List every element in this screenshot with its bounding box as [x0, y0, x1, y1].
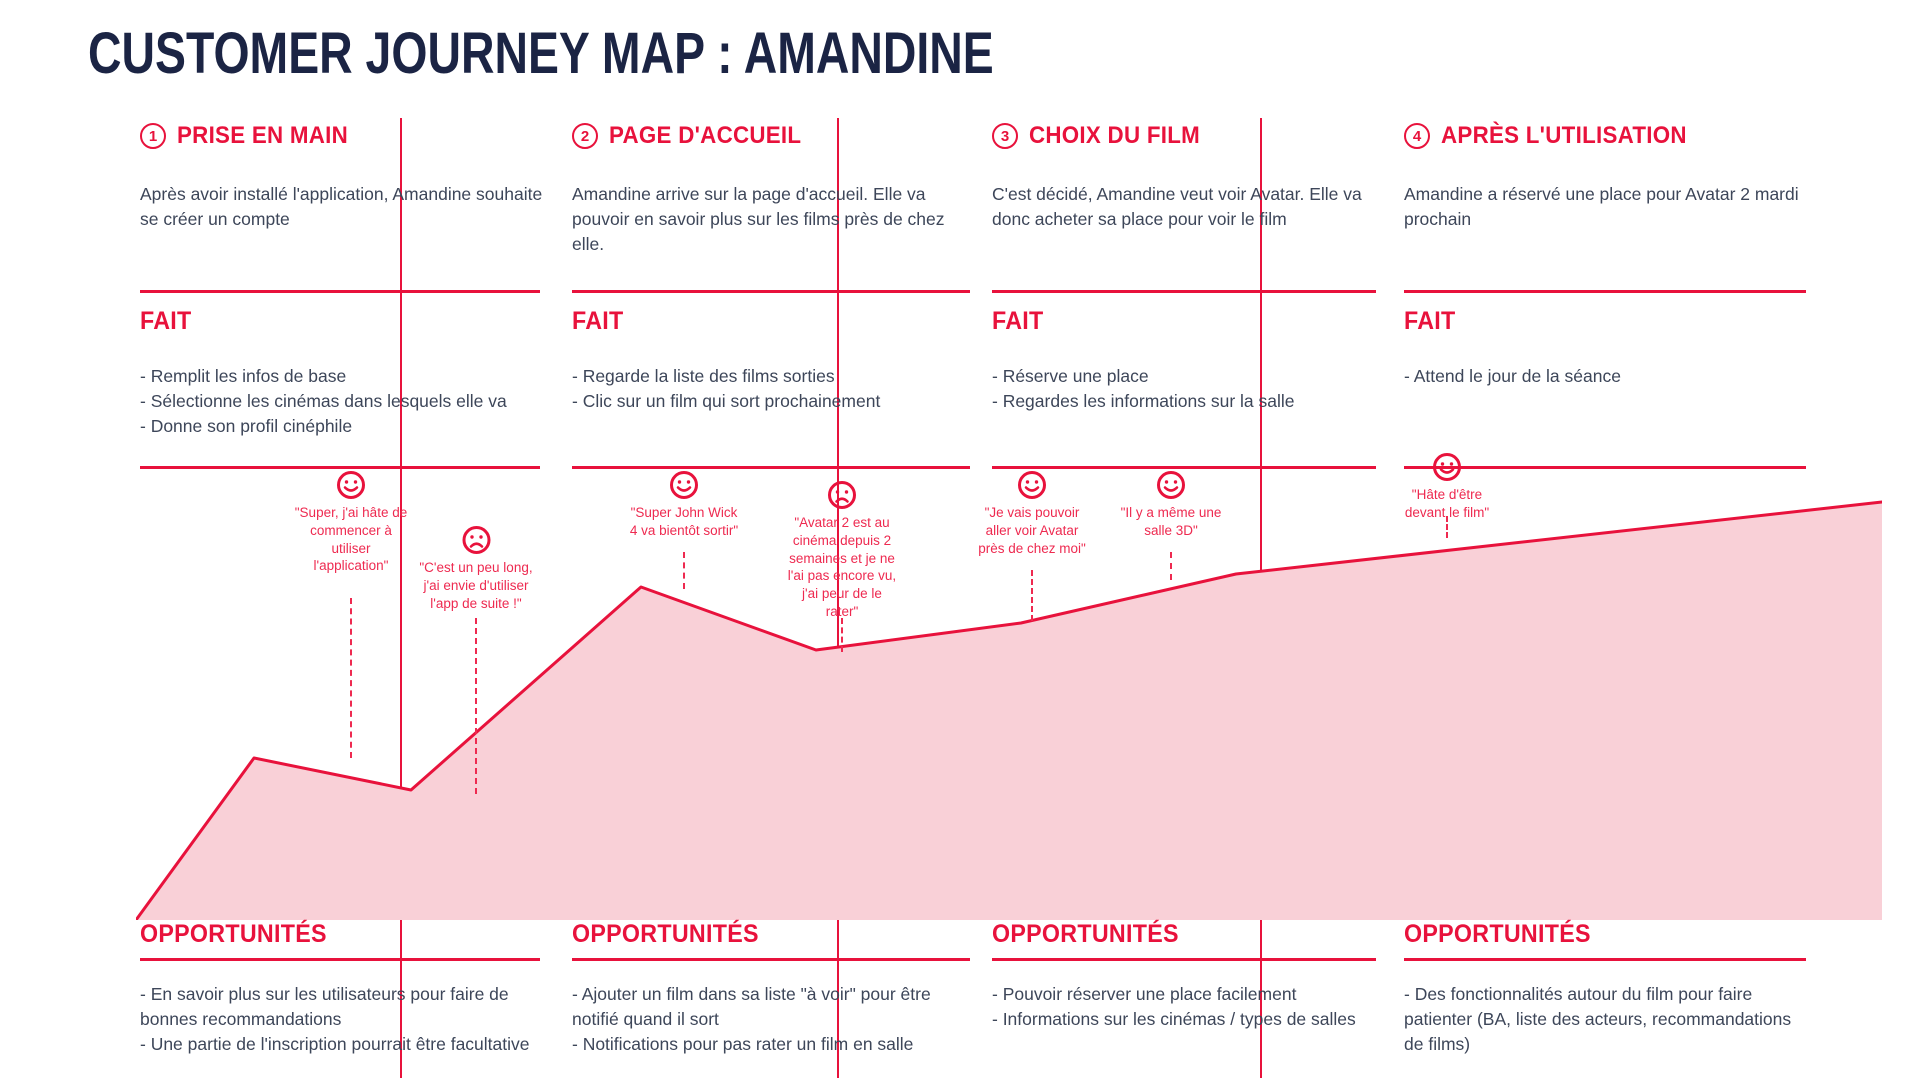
stage-description-4: Amandine a réservé une place pour Avatar… — [1404, 182, 1814, 232]
emotion-connector-3 — [683, 552, 685, 589]
fait-list-4: - Attend le jour de la séance — [1404, 364, 1814, 389]
opportunites-heading-4: OPPORTUNITÉS — [1404, 920, 1591, 949]
emotion-moment-7: "Hâte d'être devant le film" — [1367, 452, 1527, 522]
stage-header-3[interactable]: 3 CHOIX DU FILM — [992, 122, 1213, 150]
happy-face-icon — [1017, 470, 1047, 500]
opportunites-rule-2 — [572, 958, 970, 961]
emotion-rule-3 — [992, 466, 1376, 469]
opportunites-heading-3: OPPORTUNITÉS — [992, 920, 1179, 949]
stage-description-2: Amandine arrive sur la page d'accueil. E… — [572, 182, 972, 257]
emotion-connector-5 — [1031, 570, 1033, 621]
stage-title-4: APRÈS L'UTILISATION — [1441, 122, 1687, 150]
emotion-rule-1 — [140, 466, 540, 469]
fait-rule-2 — [572, 290, 970, 293]
sad-face-icon — [827, 480, 857, 510]
opportunites-list-3: - Pouvoir réserver une place facilement … — [992, 982, 1374, 1032]
fait-rule-3 — [992, 290, 1376, 293]
fait-list-3: - Réserve une place - Regardes les infor… — [992, 364, 1382, 414]
stage-header-4[interactable]: 4 APRÈS L'UTILISATION — [1404, 122, 1705, 150]
opportunites-rule-3 — [992, 958, 1376, 961]
emotion-quote-4: "Avatar 2 est au cinéma depuis 2 semaine… — [767, 514, 917, 621]
stage-description-3: C'est décidé, Amandine veut voir Avatar.… — [992, 182, 1382, 232]
stage-header-1[interactable]: 1 PRISE EN MAIN — [140, 122, 361, 150]
fait-heading-1: FAIT — [140, 307, 191, 336]
opportunites-rule-1 — [140, 958, 540, 961]
page-title: CUSTOMER JOURNEY MAP : AMANDINE — [88, 20, 994, 87]
stage-number-badge-4: 4 — [1404, 123, 1430, 149]
stage-title-1: PRISE EN MAIN — [177, 122, 348, 150]
emotion-quote-2: "C'est un peu long, j'ai envie d'utilise… — [394, 559, 559, 612]
fait-heading-2: FAIT — [572, 307, 623, 336]
stage-number-badge-1: 1 — [140, 123, 166, 149]
sad-face-icon — [461, 525, 491, 555]
happy-face-icon — [336, 470, 366, 500]
opportunites-list-1: - En savoir plus sur les utilisateurs po… — [140, 982, 540, 1057]
opportunites-list-4: - Des fonctionnalités autour du film pou… — [1404, 982, 1799, 1057]
emotion-curve-zone: "Super, j'ai hâte de commencer à utilise… — [136, 470, 1882, 920]
customer-journey-map: CUSTOMER JOURNEY MAP : AMANDINE 1 PRISE … — [0, 0, 1920, 1080]
stage-header-2[interactable]: 2 PAGE D'ACCUEIL — [572, 122, 816, 150]
emotion-connector-6 — [1170, 552, 1172, 580]
opportunites-heading-2: OPPORTUNITÉS — [572, 920, 759, 949]
emotion-moment-3: "Super John Wick 4 va bientôt sortir" — [599, 470, 769, 540]
emotion-connector-2 — [475, 618, 477, 794]
emotion-moment-4: "Avatar 2 est au cinéma depuis 2 semaine… — [767, 480, 917, 621]
stage-title-2: PAGE D'ACCUEIL — [609, 122, 801, 150]
stage-description-1: Après avoir installé l'application, Aman… — [140, 182, 550, 232]
opportunites-list-2: - Ajouter un film dans sa liste "à voir"… — [572, 982, 962, 1057]
happy-face-icon — [669, 470, 699, 500]
fait-rule-4 — [1404, 290, 1806, 293]
happy-face-icon — [1432, 452, 1462, 482]
emotion-quote-5: "Je vais pouvoir aller voir Avatar près … — [952, 504, 1112, 557]
emotion-quote-3: "Super John Wick 4 va bientôt sortir" — [599, 504, 769, 540]
fait-heading-4: FAIT — [1404, 307, 1455, 336]
emotion-moment-2: "C'est un peu long, j'ai envie d'utilise… — [394, 525, 559, 612]
emotion-rule-2 — [572, 466, 970, 469]
emotion-connector-1 — [350, 598, 352, 758]
fait-rule-1 — [140, 290, 540, 293]
emotion-connector-7 — [1446, 516, 1448, 538]
emotion-moment-5: "Je vais pouvoir aller voir Avatar près … — [952, 470, 1112, 557]
emotion-quote-6: "Il y a même une salle 3D" — [1091, 504, 1251, 540]
stage-title-3: CHOIX DU FILM — [1029, 122, 1200, 150]
emotion-moment-6: "Il y a même une salle 3D" — [1091, 470, 1251, 540]
opportunites-rule-4 — [1404, 958, 1806, 961]
emotion-connector-4 — [841, 618, 843, 652]
opportunites-heading-1: OPPORTUNITÉS — [140, 920, 327, 949]
stage-number-badge-2: 2 — [572, 123, 598, 149]
fait-list-2: - Regarde la liste des films sorties - C… — [572, 364, 972, 414]
stage-number-badge-3: 3 — [992, 123, 1018, 149]
happy-face-icon — [1156, 470, 1186, 500]
fait-list-1: - Remplit les infos de base - Sélectionn… — [140, 364, 540, 439]
fait-heading-3: FAIT — [992, 307, 1043, 336]
